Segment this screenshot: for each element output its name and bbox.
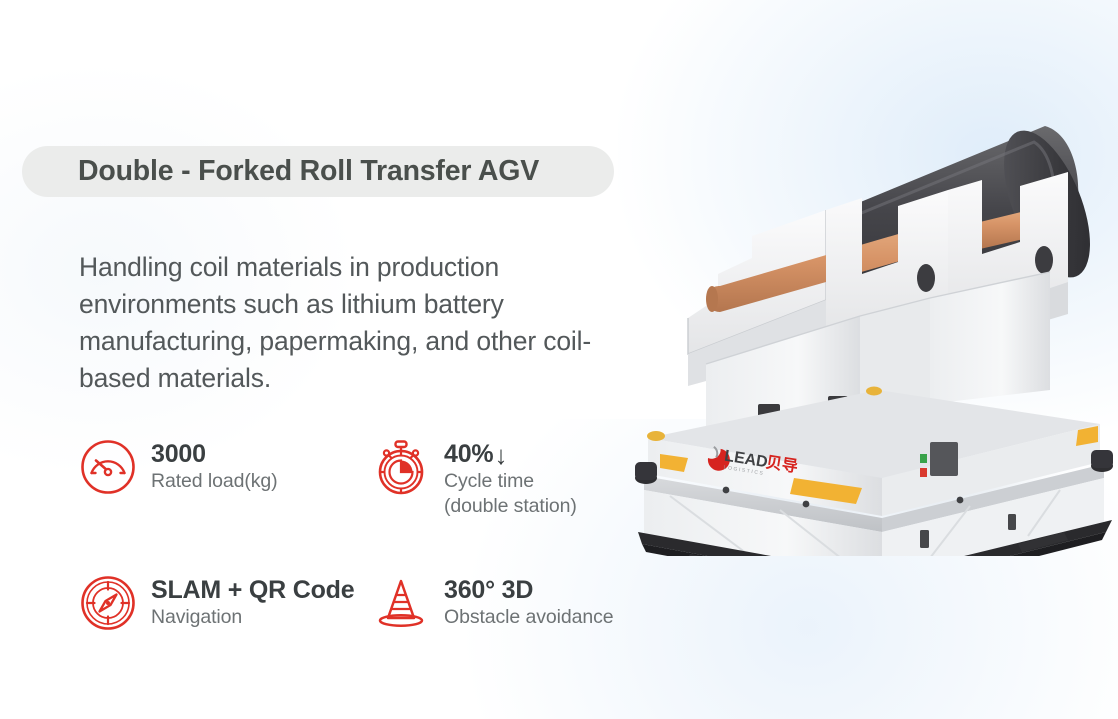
- feature-label-line1: Rated load(kg): [151, 469, 278, 494]
- feature-row-1: 3000 Rated load(kg): [79, 437, 669, 519]
- feature-navigation: SLAM + QR Code Navigation: [79, 573, 372, 632]
- feature-value-text: 3000: [151, 440, 206, 469]
- feature-value: SLAM + QR Code: [151, 576, 354, 605]
- feature-label-line1: Cycle time: [444, 469, 577, 494]
- feature-value: 40% ↓: [444, 440, 577, 469]
- feature-texts: 360° 3D Obstacle avoidance: [444, 573, 613, 630]
- feature-texts: 3000 Rated load(kg): [151, 437, 278, 494]
- feature-label-line1: Obstacle avoidance: [444, 605, 613, 630]
- feature-value-text: 40%: [444, 440, 493, 469]
- product-description: Handling coil materials in production en…: [79, 249, 644, 397]
- feature-label-line2: (double station): [444, 494, 577, 519]
- feature-row-2: SLAM + QR Code Navigation: [79, 573, 669, 632]
- product-image-agv: LEAD 贝导 LOGISTICS: [630, 86, 1118, 556]
- gauge-icon: [79, 438, 137, 496]
- feature-obstacle-avoidance: 360° 3D Obstacle avoidance: [372, 573, 665, 632]
- stopwatch-icon: [372, 438, 430, 496]
- feature-value-text: 360° 3D: [444, 576, 533, 605]
- feature-cycle-time: 40% ↓ Cycle time (double station): [372, 437, 665, 519]
- feature-label-line1: Navigation: [151, 605, 354, 630]
- feature-value: 360° 3D: [444, 576, 613, 605]
- down-arrow-icon: ↓: [494, 442, 507, 468]
- feature-texts: SLAM + QR Code Navigation: [151, 573, 354, 630]
- feature-value: 3000: [151, 440, 278, 469]
- feature-texts: 40% ↓ Cycle time (double station): [444, 437, 577, 519]
- product-feature-slide: Double - Forked Roll Transfer AGV Handli…: [0, 0, 1118, 719]
- traffic-cone-icon: [372, 574, 430, 632]
- feature-rated-load: 3000 Rated load(kg): [79, 437, 372, 519]
- compass-icon: [79, 574, 137, 632]
- page-title: Double - Forked Roll Transfer AGV: [78, 155, 539, 188]
- title-pill: Double - Forked Roll Transfer AGV: [22, 146, 614, 197]
- feature-value-text: SLAM + QR Code: [151, 576, 354, 605]
- feature-grid: 3000 Rated load(kg): [79, 437, 669, 686]
